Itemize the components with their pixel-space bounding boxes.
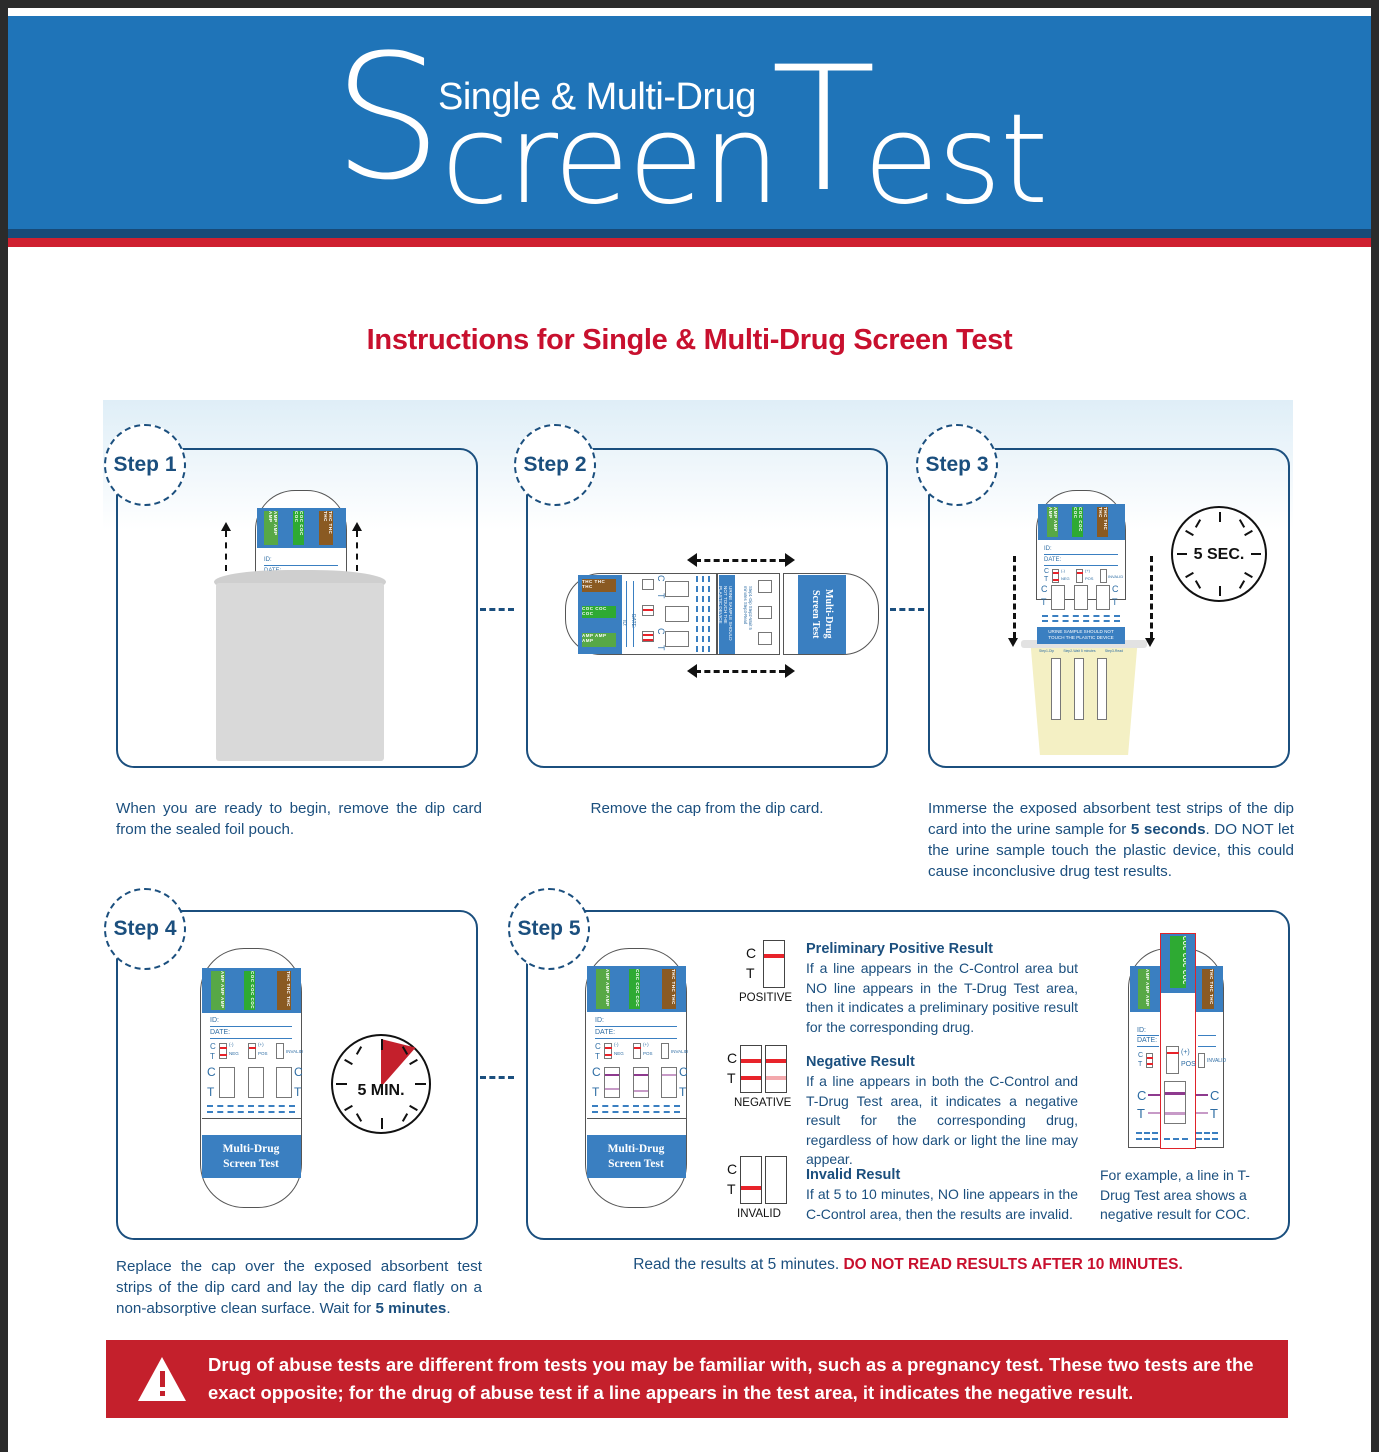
dash-row-1-3 bbox=[1042, 615, 1120, 617]
example-drug-amp: AMP AMP AMP bbox=[1138, 969, 1150, 1009]
drug-label-coc-4: COC COC COC bbox=[244, 971, 255, 1010]
positive-caption: POSITIVE bbox=[739, 992, 792, 1004]
ct-letter-c-h: C bbox=[656, 575, 666, 582]
example-dash-r1 bbox=[1196, 1132, 1218, 1134]
id-label-5: ID: bbox=[595, 1017, 604, 1024]
strip-negative-t-line-r bbox=[766, 1076, 786, 1080]
down-arrow-left-stem bbox=[1013, 556, 1016, 638]
legend-sign-neg-4: (-) bbox=[229, 1042, 234, 1047]
arrow-up-right-head bbox=[352, 522, 362, 531]
legend-word-invalid: INVALID bbox=[1108, 574, 1123, 579]
legend-word-neg: NEG bbox=[1061, 576, 1070, 581]
step-4-caption: Replace the cap over the exposed absorbe… bbox=[116, 1256, 482, 1319]
logo-creen: creen bbox=[441, 98, 779, 222]
ct-c-right-5: C bbox=[679, 1065, 688, 1079]
band-c-2-5 bbox=[634, 1074, 648, 1076]
dip-steps-row: Step1-DipStep2-Wait 5 minutesStep3-Read bbox=[1039, 649, 1123, 653]
ct-t-left-5: T bbox=[592, 1085, 599, 1099]
pull-arrow-line-top bbox=[695, 559, 785, 562]
legend-word-neg-5: NEG bbox=[614, 1051, 624, 1056]
pull-arrow-line-bottom bbox=[695, 670, 785, 673]
example-caption: For example, a line in T-Drug Test area … bbox=[1100, 1166, 1276, 1225]
negative-caption: NEGATIVE bbox=[734, 1097, 791, 1109]
date-line-4 bbox=[210, 1038, 292, 1039]
cap-strip-2 bbox=[758, 606, 772, 619]
ct-t-left-4: T bbox=[207, 1085, 214, 1099]
legend-t-5: T bbox=[595, 1052, 600, 1061]
strip-positive bbox=[763, 940, 785, 988]
result-window-1-h bbox=[665, 581, 689, 597]
down-arrow-right-head bbox=[1145, 638, 1155, 647]
drug-label-thc-3: THC THC THC bbox=[1097, 507, 1108, 537]
dip-steps-text: Step1-Dip Step2-Wait 5 minutes Step3-Rea… bbox=[741, 586, 753, 644]
drug-label-coc: COC COC COC bbox=[293, 511, 304, 545]
drug-label-amp-h: AMP AMP AMP bbox=[582, 633, 616, 647]
step-3-caption: Immerse the exposed absorbent test strip… bbox=[928, 798, 1294, 882]
instruction-sheet: S Single & Multi-Drug creen T est Instru… bbox=[8, 8, 1371, 1452]
legend-neg-t-4 bbox=[220, 1054, 227, 1056]
example-legend-c: C bbox=[1138, 1052, 1143, 1059]
timer-5-minutes: 5 MIN. bbox=[331, 1034, 431, 1134]
example-legend-window-neg bbox=[1146, 1053, 1153, 1068]
drug-label-coc-h: COC COC COC bbox=[582, 606, 616, 618]
example-pos-word: POS bbox=[1181, 1061, 1196, 1068]
invalid-body: If at 5 to 10 minutes, NO line appears i… bbox=[806, 1185, 1078, 1224]
down-arrow-right-stem bbox=[1150, 556, 1153, 638]
brand-logo: S Single & Multi-Drug creen T est bbox=[333, 38, 1063, 208]
card-brand-4: Multi-Drug Screen Test bbox=[202, 1135, 301, 1178]
id-label: ID: bbox=[264, 557, 272, 563]
dash-row-2-4 bbox=[207, 1111, 295, 1113]
immerse-warning-text: URINE SAMPLE SHOULD NOT TOUCH THE PLASTI… bbox=[720, 586, 733, 644]
example-date-line bbox=[1137, 1046, 1159, 1047]
id-line-5 bbox=[595, 1026, 677, 1027]
absorbent-strip-1 bbox=[1051, 658, 1061, 720]
band-t-1-5 bbox=[605, 1088, 619, 1090]
legend-sign-pos-5: (+) bbox=[643, 1042, 649, 1047]
card-divider-4 bbox=[202, 1118, 301, 1119]
legend-pos-line bbox=[1077, 572, 1083, 574]
cap-strip-3 bbox=[758, 632, 772, 645]
strip-positive-c-line bbox=[764, 954, 784, 958]
date-label-4: DATE: bbox=[210, 1029, 230, 1036]
logo-letter-t: T bbox=[771, 44, 876, 216]
step-2-badge: Step 2 bbox=[514, 424, 596, 506]
step-1-caption: When you are ready to begin, remove the … bbox=[116, 798, 482, 840]
example-dash-l1 bbox=[1136, 1132, 1158, 1134]
legend-window-invalid-4 bbox=[276, 1043, 284, 1059]
strip-negative-left bbox=[740, 1045, 762, 1093]
negative-body: If a line appears in both the C-Control … bbox=[806, 1072, 1078, 1170]
id-line-4 bbox=[210, 1026, 292, 1027]
read-results-line: Read the results at 5 minutes. DO NOT RE… bbox=[523, 1256, 1293, 1274]
example-neg-t bbox=[1147, 1063, 1153, 1065]
dash-row-2-5 bbox=[592, 1111, 680, 1113]
id-label-4: ID: bbox=[210, 1017, 219, 1024]
red-stripe bbox=[8, 238, 1371, 247]
legend-pos-line-5 bbox=[634, 1047, 641, 1049]
ct-c-right-3: C bbox=[1112, 584, 1119, 594]
cap-brand-box: Multi-DrugScreen Test bbox=[798, 575, 846, 654]
legend-window-invalid-h bbox=[642, 579, 654, 590]
connector-2-3 bbox=[890, 608, 924, 611]
pull-arrow-bottom-left bbox=[687, 664, 697, 678]
example-date-label: DATE: bbox=[1137, 1037, 1157, 1044]
result-window-1-3 bbox=[1051, 585, 1065, 610]
drug-label-thc-5: THC THC THC bbox=[662, 969, 676, 1009]
brand-line-1-b: Multi-Drug bbox=[608, 1142, 665, 1157]
legend-line-neg-t bbox=[643, 639, 653, 641]
down-arrow-left-head bbox=[1008, 638, 1018, 647]
pull-arrow-top-left bbox=[687, 553, 697, 567]
invalid-title: Invalid Result bbox=[806, 1167, 900, 1183]
legend-word-invalid-4: INVALID bbox=[286, 1049, 303, 1054]
invalid-c-letter: C bbox=[727, 1161, 737, 1177]
date-label-5: DATE: bbox=[595, 1029, 615, 1036]
legend-c-5: C bbox=[595, 1042, 601, 1051]
pull-arrow-bottom-right bbox=[785, 664, 795, 678]
page-title: Instructions for Single & Multi-Drug Scr… bbox=[8, 324, 1371, 357]
warning-triangle-icon bbox=[138, 1357, 186, 1401]
strip-negative-c-line-r bbox=[766, 1059, 786, 1063]
legend-window-pos-5 bbox=[633, 1043, 641, 1059]
example-center-band-c bbox=[1165, 1092, 1185, 1095]
legend-t-4: T bbox=[210, 1052, 215, 1061]
example-pos-line bbox=[1167, 1052, 1179, 1054]
positive-body: If a line appears in the C-Control area … bbox=[806, 959, 1078, 1037]
example-id-line-r bbox=[1198, 1035, 1216, 1036]
legend-neg-line-t bbox=[1053, 579, 1059, 581]
step-3-badge: Step 3 bbox=[916, 424, 998, 506]
brand-line-1: Multi-Drug bbox=[223, 1142, 280, 1157]
legend-word-invalid-5: INVALID bbox=[671, 1049, 688, 1054]
positive-c-letter: C bbox=[746, 945, 756, 961]
negative-title: Negative Result bbox=[806, 1054, 915, 1070]
example-band-t-right bbox=[1196, 1112, 1208, 1114]
step-1-badge: Step 1 bbox=[104, 424, 186, 506]
result-window-3-4 bbox=[276, 1067, 292, 1098]
brand-line-2: Screen Test bbox=[223, 1157, 279, 1172]
drug-label-thc: THC THC THC bbox=[319, 511, 333, 545]
logo-letter-s: S bbox=[333, 32, 438, 204]
ct-t-right-3: T bbox=[1112, 597, 1118, 607]
header-banner: S Single & Multi-Drug creen T est bbox=[8, 16, 1371, 229]
card-divider-5 bbox=[587, 1118, 686, 1119]
step-4-badge: Step 4 bbox=[104, 888, 186, 970]
legend-window-invalid-3 bbox=[1100, 569, 1107, 583]
example-ct-c-left: C bbox=[1137, 1088, 1146, 1103]
invalid-t-letter: T bbox=[727, 1181, 736, 1197]
legend-window-pos-4 bbox=[248, 1043, 256, 1059]
result-window-2-4 bbox=[248, 1067, 264, 1098]
ct-c-left-3: C bbox=[1041, 584, 1048, 594]
drug-label-amp: AMP AMP AMP bbox=[264, 511, 278, 545]
absorbent-strip-3 bbox=[1097, 658, 1107, 720]
strip-invalid-left bbox=[740, 1156, 762, 1204]
connector-4-5 bbox=[480, 1076, 514, 1079]
legend-word-neg-4: NEG bbox=[229, 1051, 239, 1056]
date-line-3 bbox=[1044, 565, 1118, 566]
example-dash-r2 bbox=[1196, 1138, 1218, 1140]
positive-t-letter: T bbox=[746, 965, 755, 981]
legend-t-3: T bbox=[1044, 576, 1048, 583]
ct-letter-t2-h: T bbox=[656, 645, 666, 651]
band-c-1-5 bbox=[605, 1074, 619, 1076]
dash-col-2 bbox=[702, 576, 704, 652]
dash-row-1-5 bbox=[592, 1105, 680, 1107]
step-2-caption: Remove the cap from the dip card. bbox=[526, 798, 888, 819]
result-window-2-5 bbox=[633, 1067, 649, 1098]
cap-strip-1 bbox=[758, 580, 772, 593]
timer-5-seconds: 5 SEC. bbox=[1171, 506, 1267, 602]
id-line bbox=[264, 565, 338, 566]
ct-c-left-4: C bbox=[207, 1065, 216, 1079]
foil-pouch bbox=[216, 583, 384, 761]
id-line-h bbox=[626, 581, 627, 647]
drug-label-amp-5: AMP AMP AMP bbox=[596, 969, 610, 1009]
result-window-3-h bbox=[665, 631, 689, 647]
legend-sign-neg: (-) bbox=[1061, 568, 1065, 573]
ct-c-right-4: C bbox=[294, 1065, 303, 1079]
strip-invalid-t-line bbox=[741, 1186, 761, 1190]
example-invalid-word: INVALID bbox=[1207, 1058, 1226, 1064]
example-invalid-window bbox=[1198, 1053, 1205, 1068]
ct-letter-t-h: T bbox=[656, 593, 666, 599]
id-label-h: ID: bbox=[621, 620, 627, 626]
example-id-label: ID: bbox=[1137, 1027, 1146, 1034]
date-label-3: DATE: bbox=[1044, 557, 1061, 563]
example-neg-c bbox=[1147, 1057, 1153, 1059]
result-window-3-5 bbox=[661, 1067, 677, 1098]
band-t-2-5 bbox=[634, 1090, 648, 1092]
id-label-3: ID: bbox=[1044, 546, 1052, 552]
band-c-3-5 bbox=[662, 1074, 676, 1076]
date-line-5 bbox=[595, 1038, 677, 1039]
drug-label-coc-3: COC COC COC bbox=[1072, 507, 1083, 537]
navy-stripe bbox=[8, 229, 1371, 238]
result-window-2-h bbox=[665, 606, 689, 622]
urine-sample bbox=[1026, 645, 1142, 755]
legend-neg-c-4 bbox=[220, 1047, 227, 1049]
ct-t-left-3: T bbox=[1041, 597, 1047, 607]
ct-t-right-4: T bbox=[294, 1085, 301, 1099]
dash-col-3 bbox=[708, 576, 710, 652]
result-window-1-4 bbox=[219, 1067, 235, 1098]
example-legend-t: T bbox=[1138, 1061, 1142, 1068]
legend-c-3: C bbox=[1044, 568, 1049, 575]
legend-neg-c-5 bbox=[605, 1047, 612, 1049]
legend-sign-pos-4: (+) bbox=[258, 1042, 264, 1047]
legend-word-pos-4: POS bbox=[258, 1051, 268, 1056]
dash-row-1-4 bbox=[207, 1105, 295, 1107]
date-label-h: DATE: bbox=[630, 614, 636, 628]
positive-title: Preliminary Positive Result bbox=[806, 941, 993, 957]
warning-text: Drug of abuse tests are different from t… bbox=[208, 1351, 1288, 1407]
result-window-2-3 bbox=[1074, 585, 1088, 610]
timer-5-seconds-label: 5 SEC. bbox=[1173, 546, 1265, 564]
immerse-warning-band-text: URINE SAMPLE SHOULD NOTTOUCH THE PLASTIC… bbox=[1039, 629, 1123, 641]
example-ct-c-right: C bbox=[1210, 1088, 1219, 1103]
result-window-3-3 bbox=[1096, 585, 1110, 610]
pull-arrow-top-right bbox=[785, 553, 795, 567]
drug-label-amp-3: AMP AMP AMP bbox=[1047, 507, 1058, 537]
example-pos-window bbox=[1166, 1046, 1179, 1074]
strip-negative-c-line-l bbox=[741, 1059, 761, 1063]
example-date-line-r bbox=[1198, 1046, 1216, 1047]
legend-window-invalid-5 bbox=[661, 1043, 669, 1059]
legend-neg-line-c bbox=[1053, 572, 1059, 574]
legend-neg-t-5 bbox=[605, 1054, 612, 1056]
arrow-up-right-stem bbox=[356, 531, 358, 571]
example-dash-l2 bbox=[1136, 1138, 1158, 1140]
legend-word-pos-5: POS bbox=[643, 1051, 653, 1056]
invalid-caption: INVALID bbox=[737, 1208, 781, 1220]
drug-label-thc-4: THC THC THC bbox=[277, 971, 291, 1010]
arrow-up-left-head bbox=[221, 522, 231, 531]
example-id-line bbox=[1137, 1035, 1159, 1036]
legend-sign-neg-5: (-) bbox=[614, 1042, 619, 1047]
warning-banner: Drug of abuse tests are different from t… bbox=[106, 1340, 1288, 1418]
drug-label-amp-4: AMP AMP AMP bbox=[211, 971, 225, 1010]
legend-line-neg-c bbox=[643, 634, 653, 636]
strip-negative-t-line-l bbox=[741, 1076, 761, 1080]
drug-label-thc-h: THC THC THC bbox=[582, 579, 616, 592]
id-line-3 bbox=[1044, 554, 1118, 555]
ct-letter-c2-h: C bbox=[656, 628, 666, 635]
example-band-c-left bbox=[1148, 1094, 1160, 1096]
legend-word-pos: POS bbox=[1085, 576, 1093, 581]
ct-c-left-5: C bbox=[592, 1065, 601, 1079]
example-dash-c1 bbox=[1164, 1138, 1188, 1140]
example-drug-thc: THC THC THC bbox=[1202, 969, 1214, 1009]
legend-c-4: C bbox=[210, 1042, 216, 1051]
legend-pos-line-4 bbox=[249, 1047, 256, 1049]
strip-invalid-right bbox=[765, 1156, 787, 1204]
dash-col-1 bbox=[696, 576, 698, 652]
example-ct-t-left: T bbox=[1137, 1106, 1145, 1121]
example-band-c-right bbox=[1196, 1094, 1208, 1096]
legend-sign-pos: (+) bbox=[1085, 568, 1090, 573]
step-5-badge: Step 5 bbox=[508, 888, 590, 970]
absorbent-strip-2 bbox=[1074, 658, 1084, 720]
legend-line-pos bbox=[643, 609, 653, 611]
ct-t-right-5: T bbox=[679, 1085, 686, 1099]
example-pos-sign: (+) bbox=[1181, 1049, 1190, 1056]
arrow-up-left-stem bbox=[225, 531, 227, 571]
example-center-band-t bbox=[1165, 1112, 1185, 1115]
strip-negative-right bbox=[765, 1045, 787, 1093]
result-window-1-5 bbox=[604, 1067, 620, 1098]
legend-window-neg-4 bbox=[219, 1043, 227, 1059]
card-brand-5: Multi-Drug Screen Test bbox=[587, 1135, 686, 1178]
example-center-window bbox=[1164, 1081, 1186, 1124]
legend-window-neg-5 bbox=[604, 1043, 612, 1059]
negative-t-letter: T bbox=[727, 1070, 736, 1086]
example-band-t-left bbox=[1148, 1112, 1160, 1114]
logo-est: est bbox=[863, 98, 1047, 222]
drug-label-coc-5: COC COC COC bbox=[629, 969, 640, 1009]
dash-row-2-3 bbox=[1042, 620, 1120, 622]
connector-1-2 bbox=[480, 608, 514, 611]
brand-line-2-b: Screen Test bbox=[608, 1157, 664, 1172]
negative-c-letter: C bbox=[727, 1050, 737, 1066]
example-ct-t-right: T bbox=[1210, 1106, 1218, 1121]
